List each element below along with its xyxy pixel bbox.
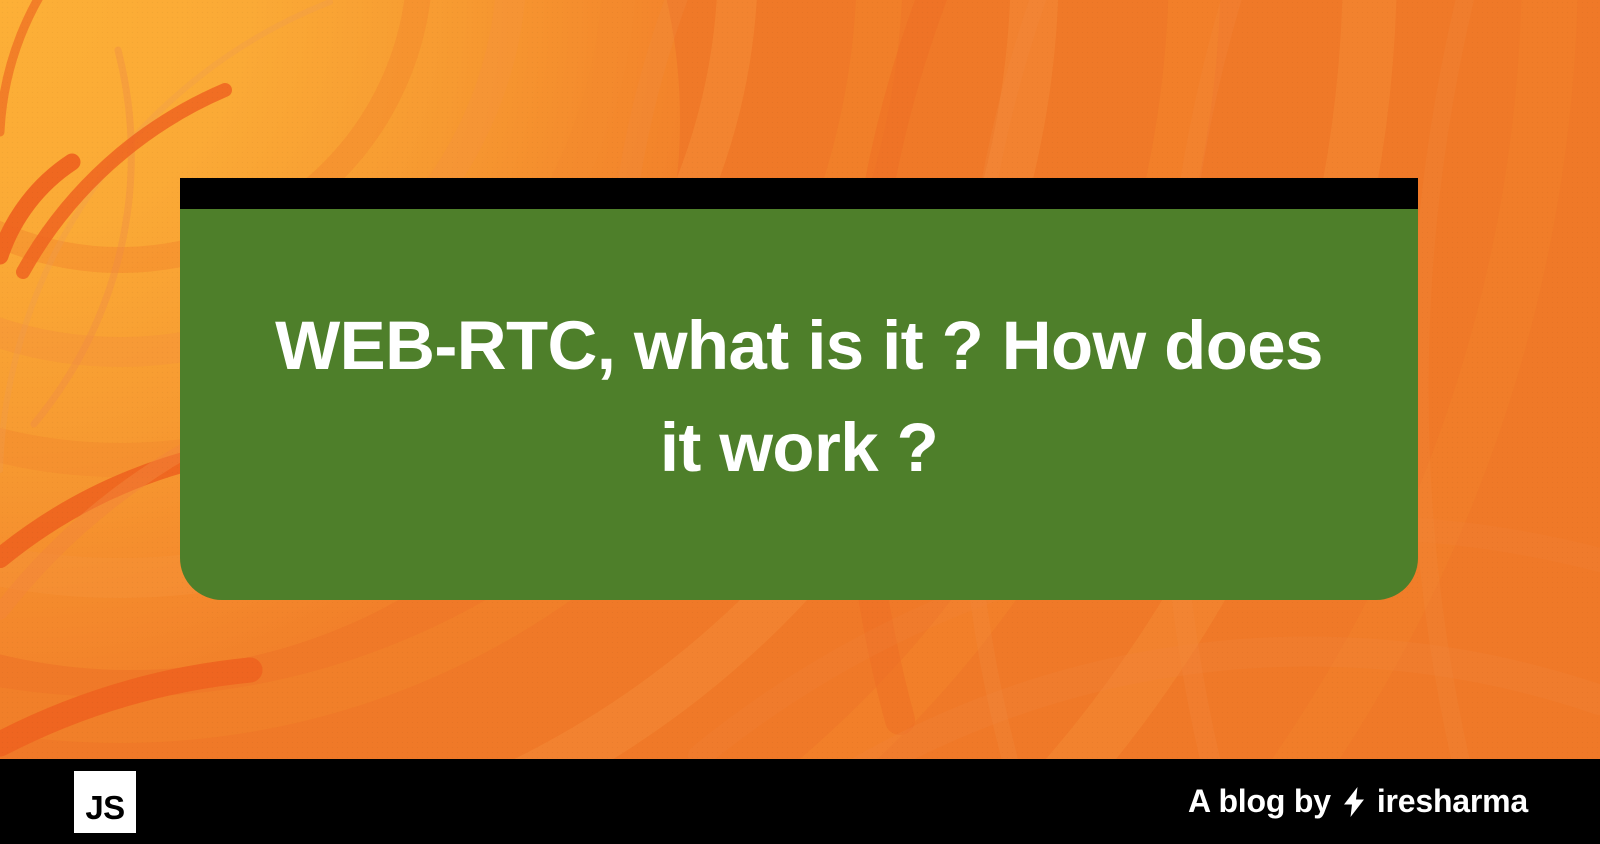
footer-credit: A blog by iresharma bbox=[1188, 783, 1528, 820]
og-image-canvas: WEB-RTC, what is it ? How does it work ?… bbox=[0, 0, 1600, 844]
lightning-bolt-icon bbox=[1342, 785, 1366, 819]
credit-prefix: A blog by bbox=[1188, 783, 1331, 820]
card-top-bar bbox=[180, 178, 1418, 209]
card-body: WEB-RTC, what is it ? How does it work ? bbox=[180, 209, 1418, 600]
author-name: iresharma bbox=[1377, 783, 1528, 820]
title-card: WEB-RTC, what is it ? How does it work ? bbox=[180, 178, 1418, 600]
page-title: WEB-RTC, what is it ? How does it work ? bbox=[254, 295, 1344, 498]
javascript-logo-label: JS bbox=[85, 791, 124, 833]
footer-bar: JS A blog by iresharma bbox=[0, 759, 1600, 844]
javascript-logo: JS bbox=[74, 771, 136, 833]
